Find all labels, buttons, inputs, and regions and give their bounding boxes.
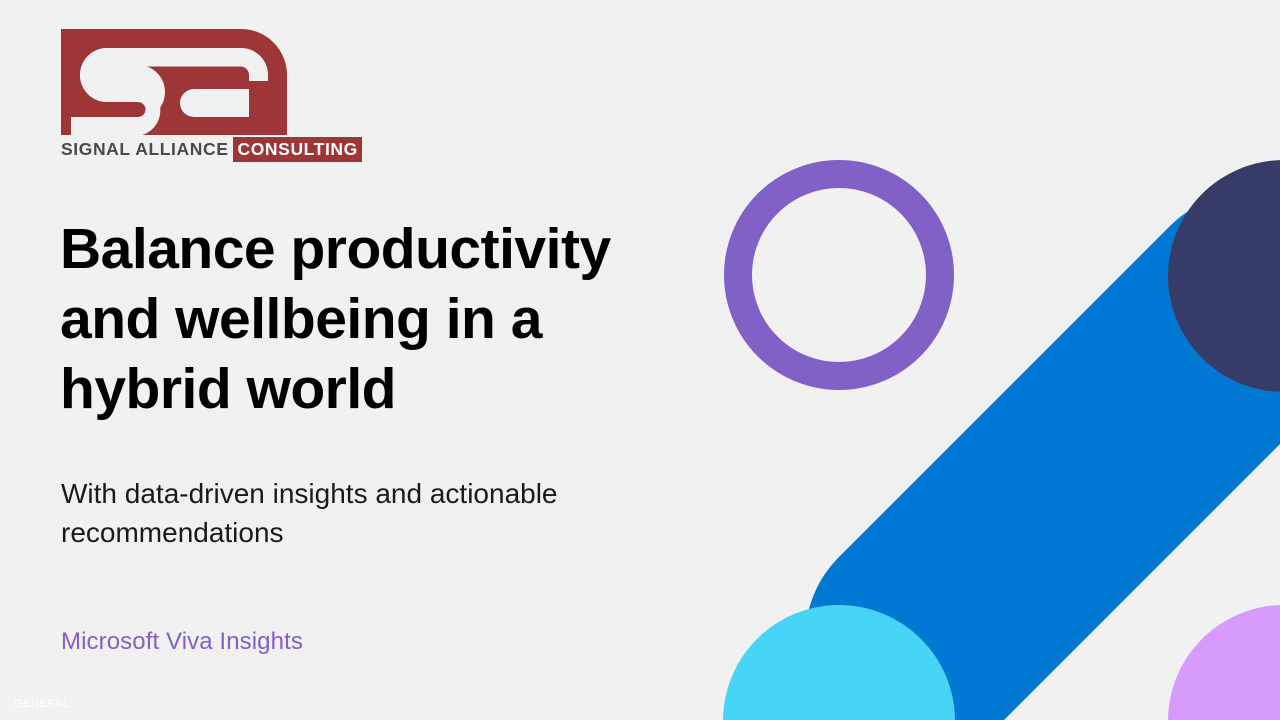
company-logo: SIGNAL ALLIANCE CONSULTING — [61, 29, 287, 162]
lavender-circle — [1168, 605, 1280, 720]
classification-label: GENERAL — [14, 698, 69, 710]
product-name: Microsoft Viva Insights — [61, 628, 303, 656]
cyan-circle — [723, 605, 955, 720]
purple-ring — [738, 174, 940, 376]
slide-subtitle: With data-driven insights and actionable… — [61, 474, 671, 552]
logo-wordmark: SIGNAL ALLIANCE CONSULTING — [61, 137, 362, 162]
slide-canvas: SIGNAL ALLIANCE CONSULTING Balance produ… — [0, 0, 1280, 720]
sa-logo-icon — [61, 29, 287, 135]
slide-title: Balance productivity and wellbeing in a … — [60, 214, 660, 424]
blue-diagonal-bar — [757, 144, 1280, 720]
logo-wordmark-right: CONSULTING — [233, 137, 361, 162]
navy-circle — [1168, 160, 1280, 392]
logo-wordmark-left: SIGNAL ALLIANCE — [61, 137, 233, 162]
